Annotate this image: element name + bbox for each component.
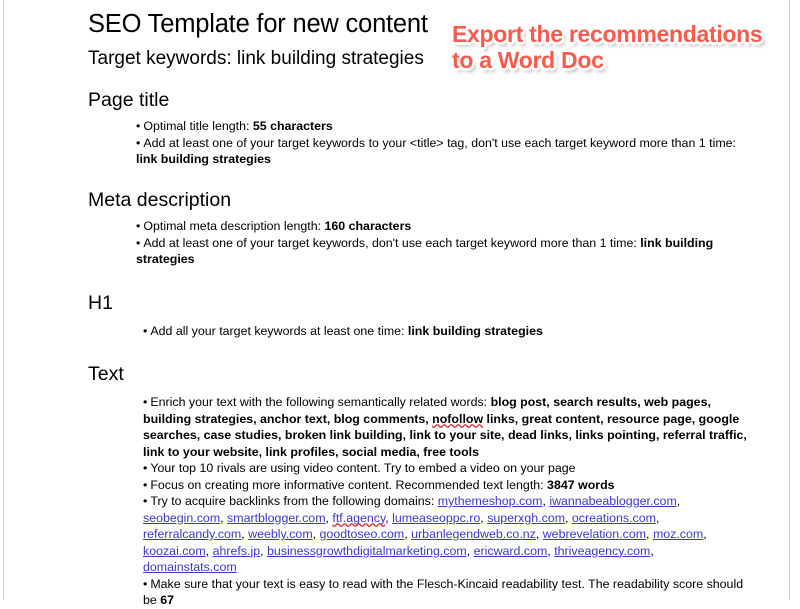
semantic-word-misspelled: nofollow (432, 412, 483, 426)
callout-line-1: Export the recommendations (452, 22, 792, 48)
backlink-domain-link[interactable]: ahrefs.jp (213, 544, 261, 558)
backlink-domain-link[interactable]: thriveagency.com (554, 544, 650, 558)
page-edge-rule-left (3, 0, 4, 600)
bullet-text: Your top 10 rivals are using video conte… (150, 461, 575, 475)
bullet-glyph: • (143, 461, 147, 475)
bullet-glyph: • (136, 119, 140, 133)
section-heading-page-title: Page title (88, 91, 748, 111)
bullet-readability: •Make sure that your text is easy to rea… (143, 576, 748, 609)
callout-line-2: to a Word Doc (452, 48, 792, 74)
bullet-text: Make sure that your text is easy to read… (143, 577, 743, 608)
bullet-list-h1: •Add all your target keywords at least o… (88, 313, 748, 340)
section-h1: H1 •Add all your target keywords at leas… (88, 268, 748, 340)
section-text: Text •Enrich your text with the followin… (88, 340, 748, 609)
bullet-glyph: • (143, 478, 147, 492)
bullet-list-text: •Enrich your text with the following sem… (88, 384, 748, 609)
semantic-intro-text: Enrich your text with the following sema… (150, 395, 490, 409)
bullet-optimal-meta-length: •Optimal meta description length: 160 ch… (136, 218, 748, 235)
backlink-domain-link[interactable]: webrevelation.com (543, 527, 646, 541)
bullet-video-content: •Your top 10 rivals are using video cont… (143, 460, 748, 477)
backlink-domain-link[interactable]: urbanlegendweb.co.nz (411, 527, 536, 541)
bullet-text-length: •Focus on creating more informative cont… (143, 477, 748, 494)
bullet-title-keywords: •Add at least one of your target keyword… (136, 135, 748, 168)
bullet-h1-keywords: •Add all your target keywords at least o… (143, 323, 748, 340)
bullet-text: Optimal meta description length: (143, 219, 324, 233)
bullet-glyph: • (136, 136, 140, 150)
page-edge-rule-right (789, 0, 790, 600)
backlink-domain-link[interactable]: domainstats.com (143, 560, 237, 574)
bullet-text: Add at least one of your target keywords… (143, 136, 736, 150)
backlink-domain-link[interactable]: ericward.com (474, 544, 548, 558)
bullet-text: Add at least one of your target keywords… (143, 236, 640, 250)
backlink-domain-link[interactable]: ftf.agency (332, 511, 385, 525)
bullet-semantic-words: •Enrich your text with the following sem… (143, 394, 748, 460)
backlink-domain-link[interactable]: goodtoseo.com (320, 527, 405, 541)
bullet-glyph: • (143, 324, 147, 338)
bullet-bold-value: link building strategies (136, 152, 271, 166)
backlink-domain-link[interactable]: koozai.com (143, 544, 206, 558)
export-annotation-callout: Export the recommendations to a Word Doc (452, 22, 792, 74)
bullet-glyph: • (143, 395, 147, 409)
backlink-domain-link[interactable]: seobegin.com (143, 511, 220, 525)
backlink-domain-link[interactable]: iwannabeablogger.com (549, 494, 676, 508)
bullet-glyph: • (143, 494, 147, 508)
section-meta-description: Meta description •Optimal meta descripti… (88, 168, 748, 268)
backlink-domain-link[interactable]: businessgrowthdigitalmarketing.com (267, 544, 467, 558)
bullet-list-page-title: •Optimal title length: 55 characters •Ad… (88, 110, 748, 168)
backlink-domain-link[interactable]: smartblogger.com (227, 511, 325, 525)
bullet-text: Focus on creating more informative conte… (150, 478, 547, 492)
bullet-optimal-title-length: •Optimal title length: 55 characters (136, 118, 748, 135)
readability-score-value: 67 (160, 593, 174, 607)
backlink-domain-link[interactable]: ocreations.com (572, 511, 656, 525)
backlink-domain-link[interactable]: lumeaseoppc.ro (392, 511, 480, 525)
backlink-domain-link[interactable]: moz.com (653, 527, 703, 541)
section-page-title: Page title •Optimal title length: 55 cha… (88, 68, 748, 168)
bullet-bold-value: 160 characters (324, 219, 411, 233)
bullet-list-meta-description: •Optimal meta description length: 160 ch… (88, 210, 748, 268)
bullet-glyph: • (136, 236, 140, 250)
backlink-domain-link[interactable]: mythemeshop.com (438, 494, 543, 508)
backlink-domain-link[interactable]: referralcandy.com (143, 527, 241, 541)
backlink-domain-link[interactable]: weebly.com (248, 527, 313, 541)
bullet-glyph: • (143, 577, 147, 591)
bullet-backlink-domains: •Try to acquire backlinks from the follo… (143, 493, 748, 576)
bullet-bold-value: 55 characters (253, 119, 333, 133)
section-heading-h1: H1 (88, 294, 748, 314)
bullet-text: Optimal title length: (143, 119, 253, 133)
section-heading-meta-description: Meta description (88, 191, 748, 211)
backlinks-intro-text: Try to acquire backlinks from the follow… (150, 494, 437, 508)
backlink-domain-link[interactable]: superxgh.com (487, 511, 565, 525)
bullet-text: Add all your target keywords at least on… (150, 324, 408, 338)
section-heading-text: Text (88, 365, 748, 385)
recommended-text-length-value: 3847 words (547, 478, 615, 492)
seo-template-document: SEO Template for new content Target keyw… (88, 0, 748, 600)
bullet-glyph: • (136, 219, 140, 233)
bullet-bold-value: link building strategies (408, 324, 543, 338)
bullet-meta-keywords: •Add at least one of your target keyword… (136, 235, 748, 268)
